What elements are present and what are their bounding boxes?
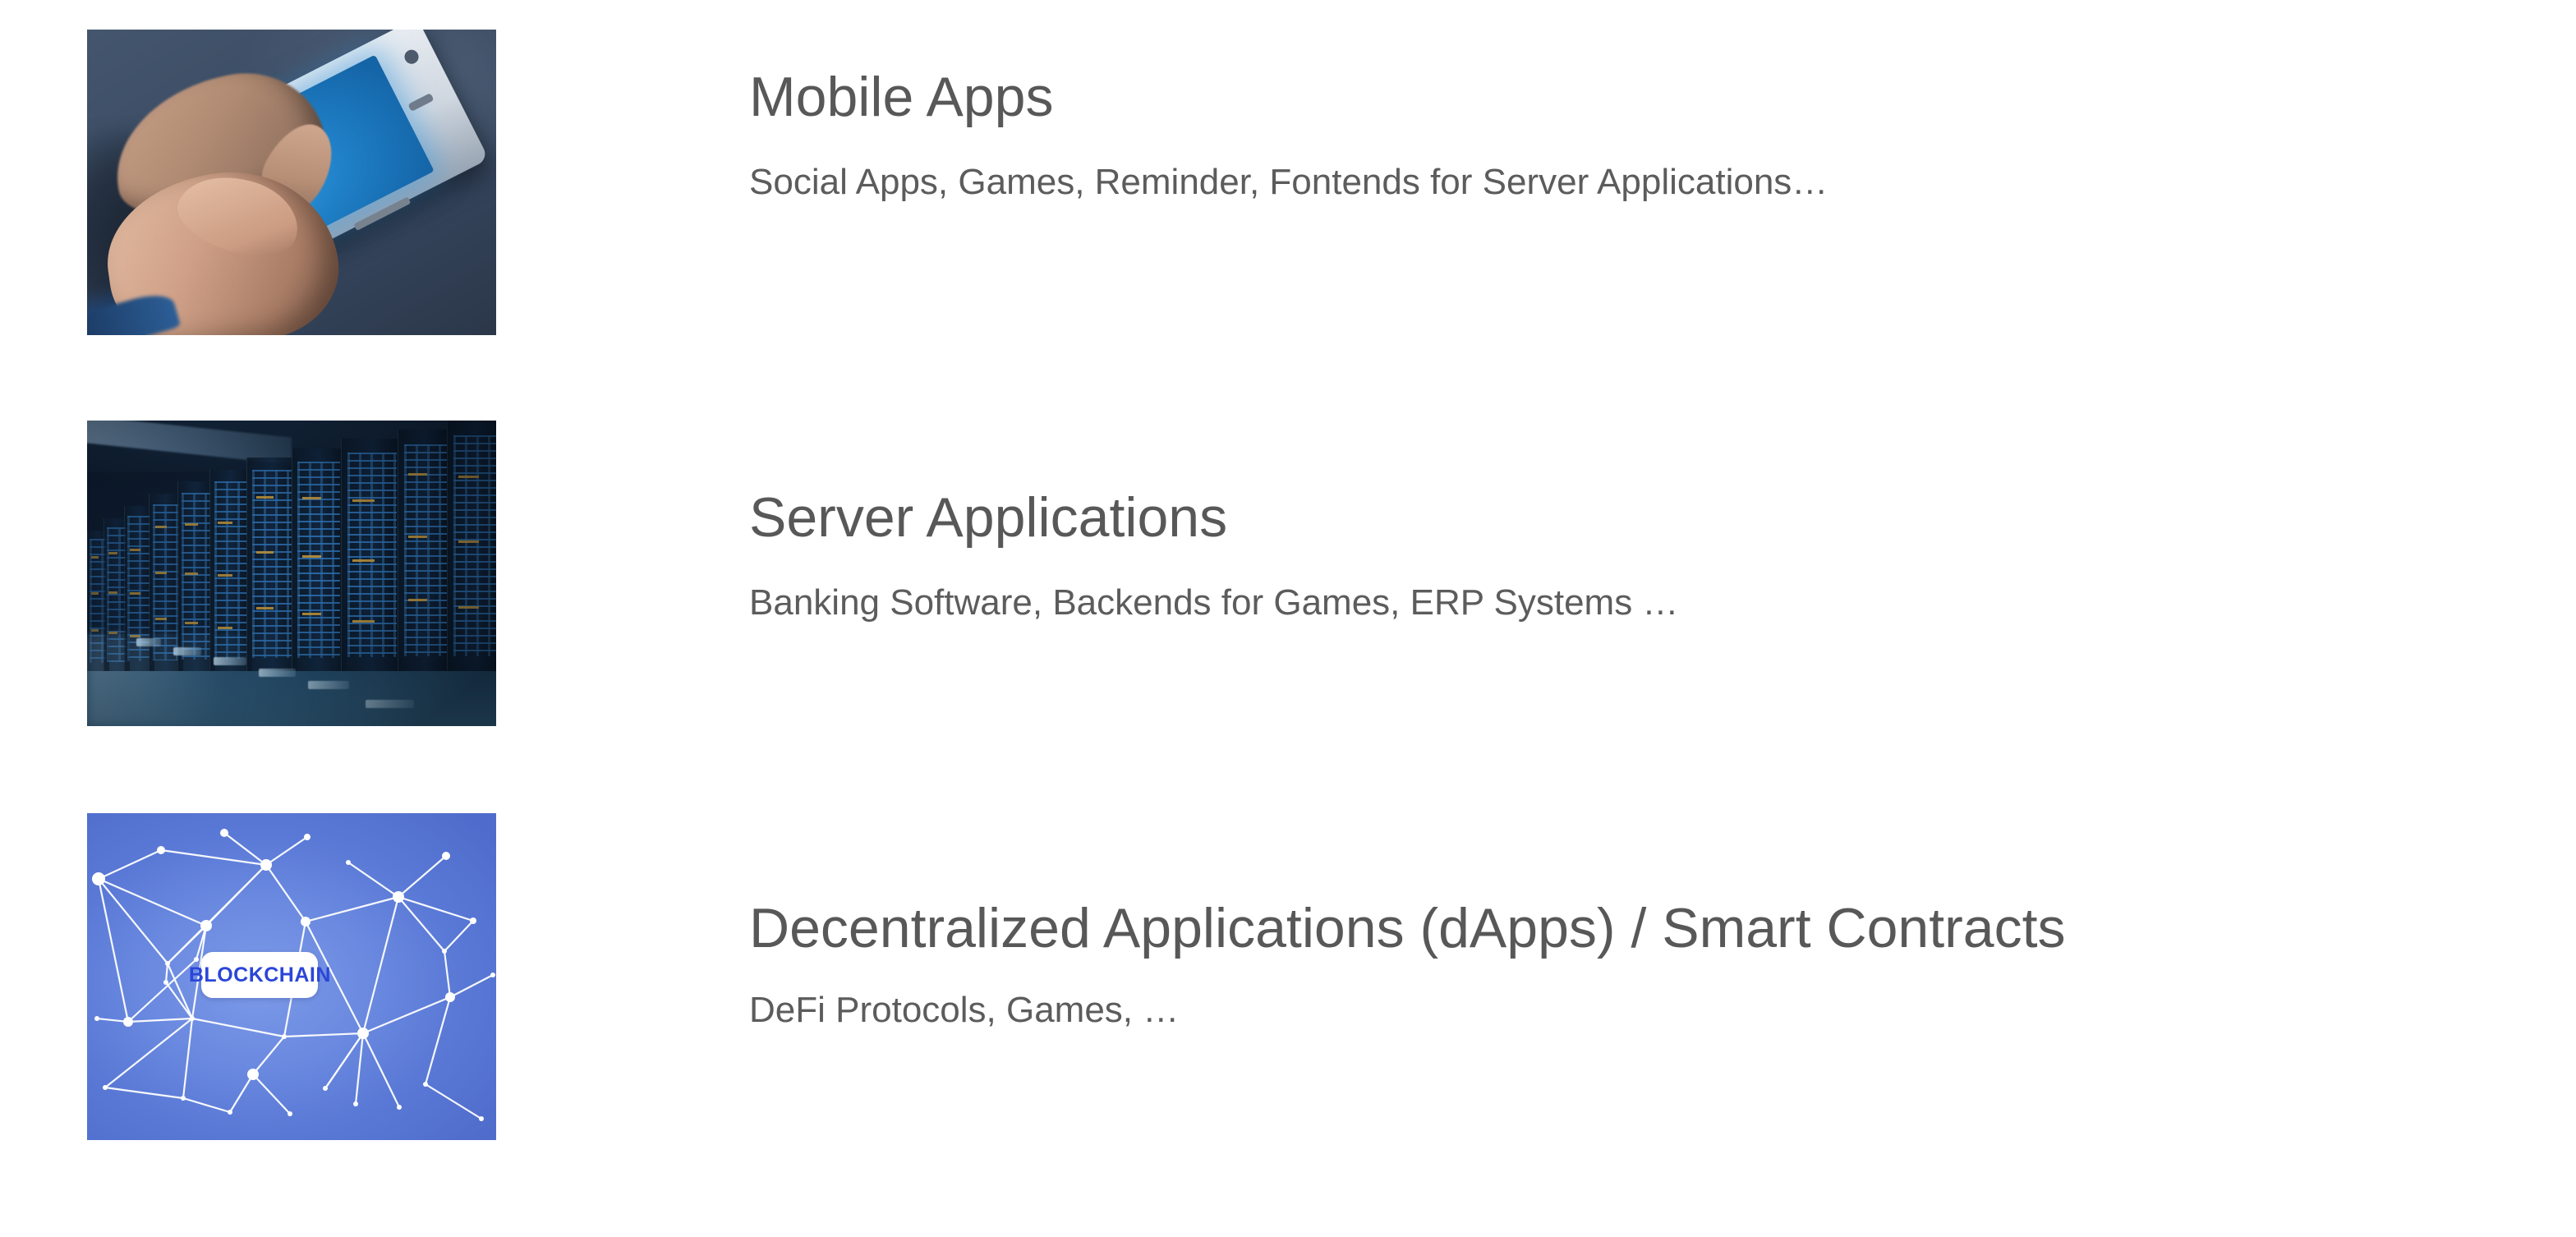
network-edge [166, 963, 168, 982]
network-node [220, 829, 228, 837]
network-node [228, 1110, 232, 1115]
network-edge [128, 959, 196, 1022]
network-node [260, 859, 272, 871]
network-node [423, 1082, 428, 1087]
mobile-apps-text-block: Mobile Apps Social Apps, Games, Reminder… [749, 69, 1828, 200]
mobile-apps-thumbnail[interactable] [87, 30, 496, 335]
network-node [165, 961, 170, 966]
network-edge [266, 865, 306, 922]
network-node [304, 834, 310, 840]
network-edge [99, 850, 161, 879]
network-edge [363, 1033, 399, 1107]
network-node [200, 920, 212, 931]
network-node [346, 860, 351, 865]
mobile-apps-subtitle: Social Apps, Games, Reminder, Fontends f… [749, 164, 1828, 200]
network-edge [363, 997, 450, 1033]
network-node [357, 1028, 369, 1039]
network-edge [444, 951, 450, 997]
datacenter-photo-illustration [87, 421, 496, 726]
network-edge [183, 1098, 230, 1112]
network-node [123, 1017, 133, 1027]
blockchain-thumbnail[interactable]: BLOCKCHAIN [87, 813, 496, 1140]
network-edge [105, 1088, 183, 1098]
network-edge [253, 1074, 290, 1114]
content-list: Mobile Apps Social Apps, Games, Reminder… [0, 0, 2576, 1237]
network-edge [425, 1084, 481, 1119]
network-node [353, 1101, 358, 1106]
network-edge [206, 865, 266, 926]
mobile-apps-title: Mobile Apps [749, 69, 1828, 125]
network-node [247, 1069, 259, 1080]
earpiece-speaker [407, 93, 434, 111]
network-edge [99, 879, 168, 963]
phone-photo-illustration [87, 30, 496, 335]
network-node [301, 917, 310, 927]
network-node [194, 957, 199, 962]
network-node [103, 1085, 108, 1090]
network-node [323, 1086, 328, 1091]
server-applications-thumbnail[interactable] [87, 421, 496, 726]
network-node [190, 1016, 195, 1021]
network-edge [253, 1037, 284, 1074]
server-applications-subtitle: Banking Software, Backends for Games, ER… [749, 585, 1678, 621]
network-node [442, 852, 450, 860]
network-edge [192, 1019, 284, 1037]
network-edge [266, 837, 307, 865]
network-node [94, 1016, 99, 1021]
network-node [163, 980, 168, 985]
network-node [181, 1096, 186, 1101]
network-edge [363, 897, 398, 1033]
network-node [282, 1034, 287, 1039]
network-edge [99, 879, 128, 1022]
network-node [470, 917, 476, 924]
server-applications-title: Server Applications [749, 490, 1678, 545]
network-edge [230, 1074, 253, 1112]
network-edge [128, 1019, 192, 1022]
network-node [445, 992, 455, 1002]
vignette-overlay [87, 421, 496, 726]
network-edge [99, 879, 206, 926]
front-camera-icon [402, 48, 421, 67]
network-edge [348, 862, 398, 897]
decentralized-applications-subtitle: DeFi Protocols, Games, … [749, 992, 2065, 1028]
network-node [393, 891, 404, 903]
network-node [397, 1105, 402, 1110]
network-edge [425, 997, 450, 1084]
blockchain-label-text: BLOCKCHAIN [189, 963, 331, 987]
network-node [442, 949, 447, 954]
server-applications-text-block: Server Applications Banking Software, Ba… [749, 490, 1678, 621]
decentralized-applications-title: Decentralized Applications (dApps) / Sma… [749, 900, 2065, 956]
decentralized-applications-text-block: Decentralized Applications (dApps) / Sma… [749, 900, 2065, 1028]
network-edge [284, 1033, 363, 1037]
network-node [490, 973, 495, 977]
network-edge [450, 975, 493, 997]
network-edge [398, 856, 446, 897]
blockchain-network-illustration: BLOCKCHAIN [87, 813, 496, 1140]
network-node [479, 1116, 484, 1121]
network-node [92, 872, 105, 885]
network-edge [183, 1019, 192, 1098]
network-edge [444, 921, 473, 951]
network-node [157, 846, 165, 854]
blockchain-label-badge: BLOCKCHAIN [201, 952, 318, 998]
network-edge [306, 897, 398, 922]
network-node [287, 1111, 292, 1116]
network-edge [105, 1019, 192, 1088]
